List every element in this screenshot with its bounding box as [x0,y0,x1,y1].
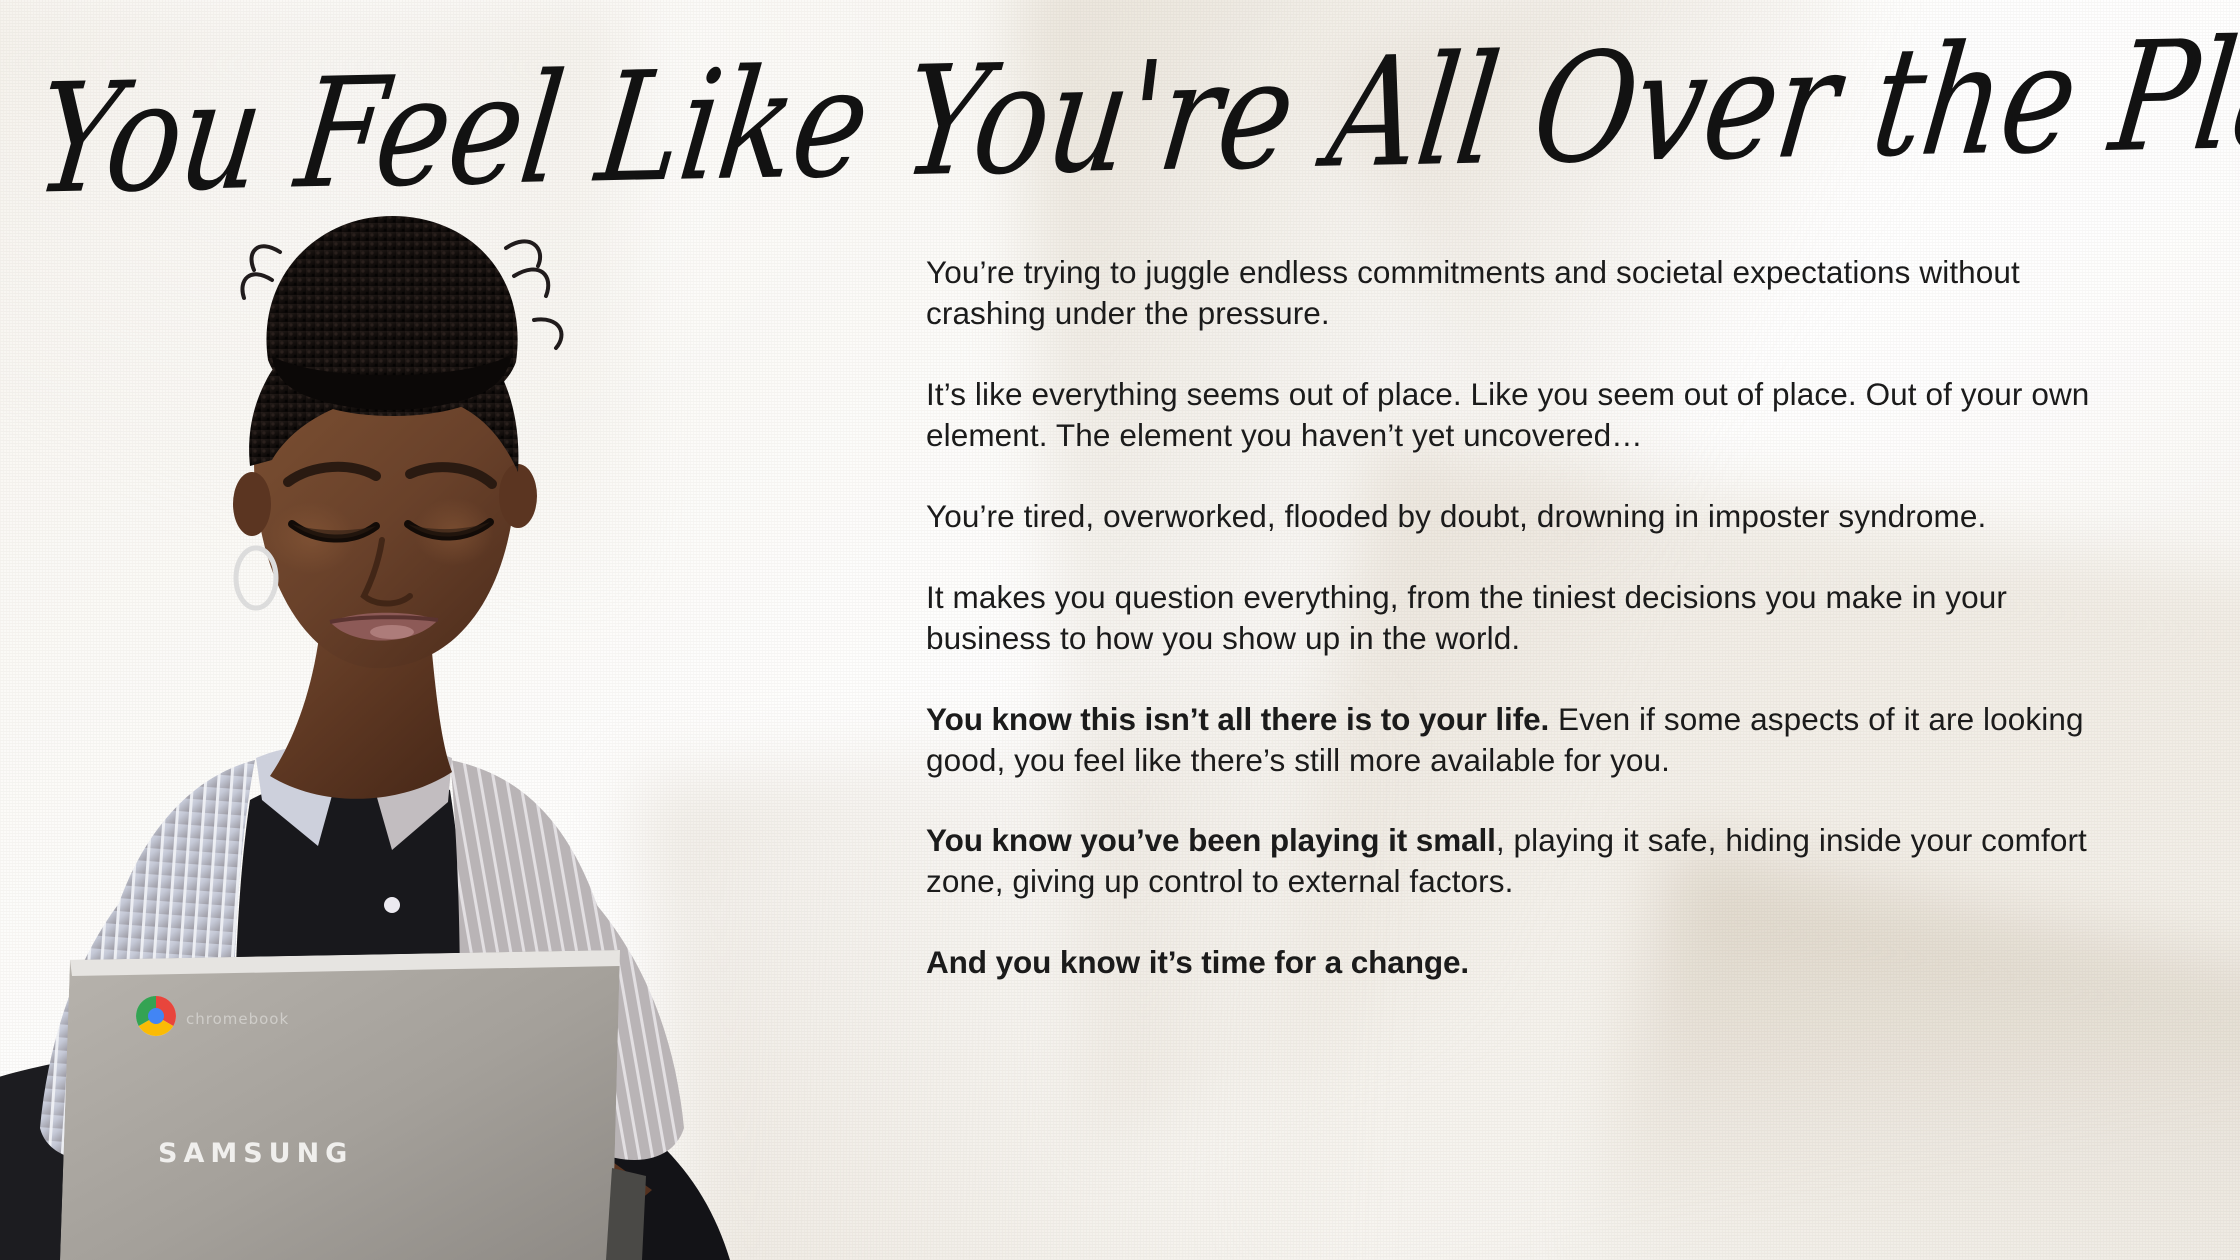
body-copy: You’re trying to juggle endless commitme… [926,252,2126,983]
laptop-lid [60,950,620,1260]
paragraph: You’re tired, overworked, flooded by dou… [926,496,2126,537]
paragraph-text: You’re trying to juggle endless commitme… [926,254,2020,331]
paragraph-bold-lead: And you know it’s time for a change. [926,944,1469,980]
paragraph: It’s like everything seems out of place.… [926,374,2126,456]
chrome-icon [136,996,176,1036]
paragraph: You know you’ve been playing it small, p… [926,820,2126,902]
hero-photo-illustration: chromebook SAMSUNG [0,160,900,1260]
paragraph-text: You’re tired, overworked, flooded by dou… [926,498,1986,534]
lip-highlight [370,625,414,639]
hoop-earring [236,548,276,608]
slide-canvas: You Feel Like You're All Over the Place [0,0,2240,1260]
laptop: chromebook SAMSUNG [60,950,622,1260]
paragraph: You’re trying to juggle endless commitme… [926,252,2126,334]
paragraph-text: It makes you question everything, from t… [926,579,2007,656]
ear [499,464,537,528]
ear [233,472,271,536]
hero-photo: chromebook SAMSUNG [0,160,900,1260]
paragraph-bold-lead: You know this isn’t all there is to your… [926,701,1549,737]
laptop-side-edge [606,1168,646,1260]
laptop-brand-label: SAMSUNG [158,1138,353,1169]
paragraph: It makes you question everything, from t… [926,577,2126,659]
paragraph: And you know it’s time for a change. [926,942,2126,983]
shirt-button [384,897,400,913]
chromebook-badge-label: chromebook [186,1010,289,1028]
paragraph-text: It’s like everything seems out of place.… [926,376,2089,453]
paragraph-bold-lead: You know you’ve been playing it small [926,822,1496,858]
paragraph: You know this isn’t all there is to your… [926,699,2126,781]
